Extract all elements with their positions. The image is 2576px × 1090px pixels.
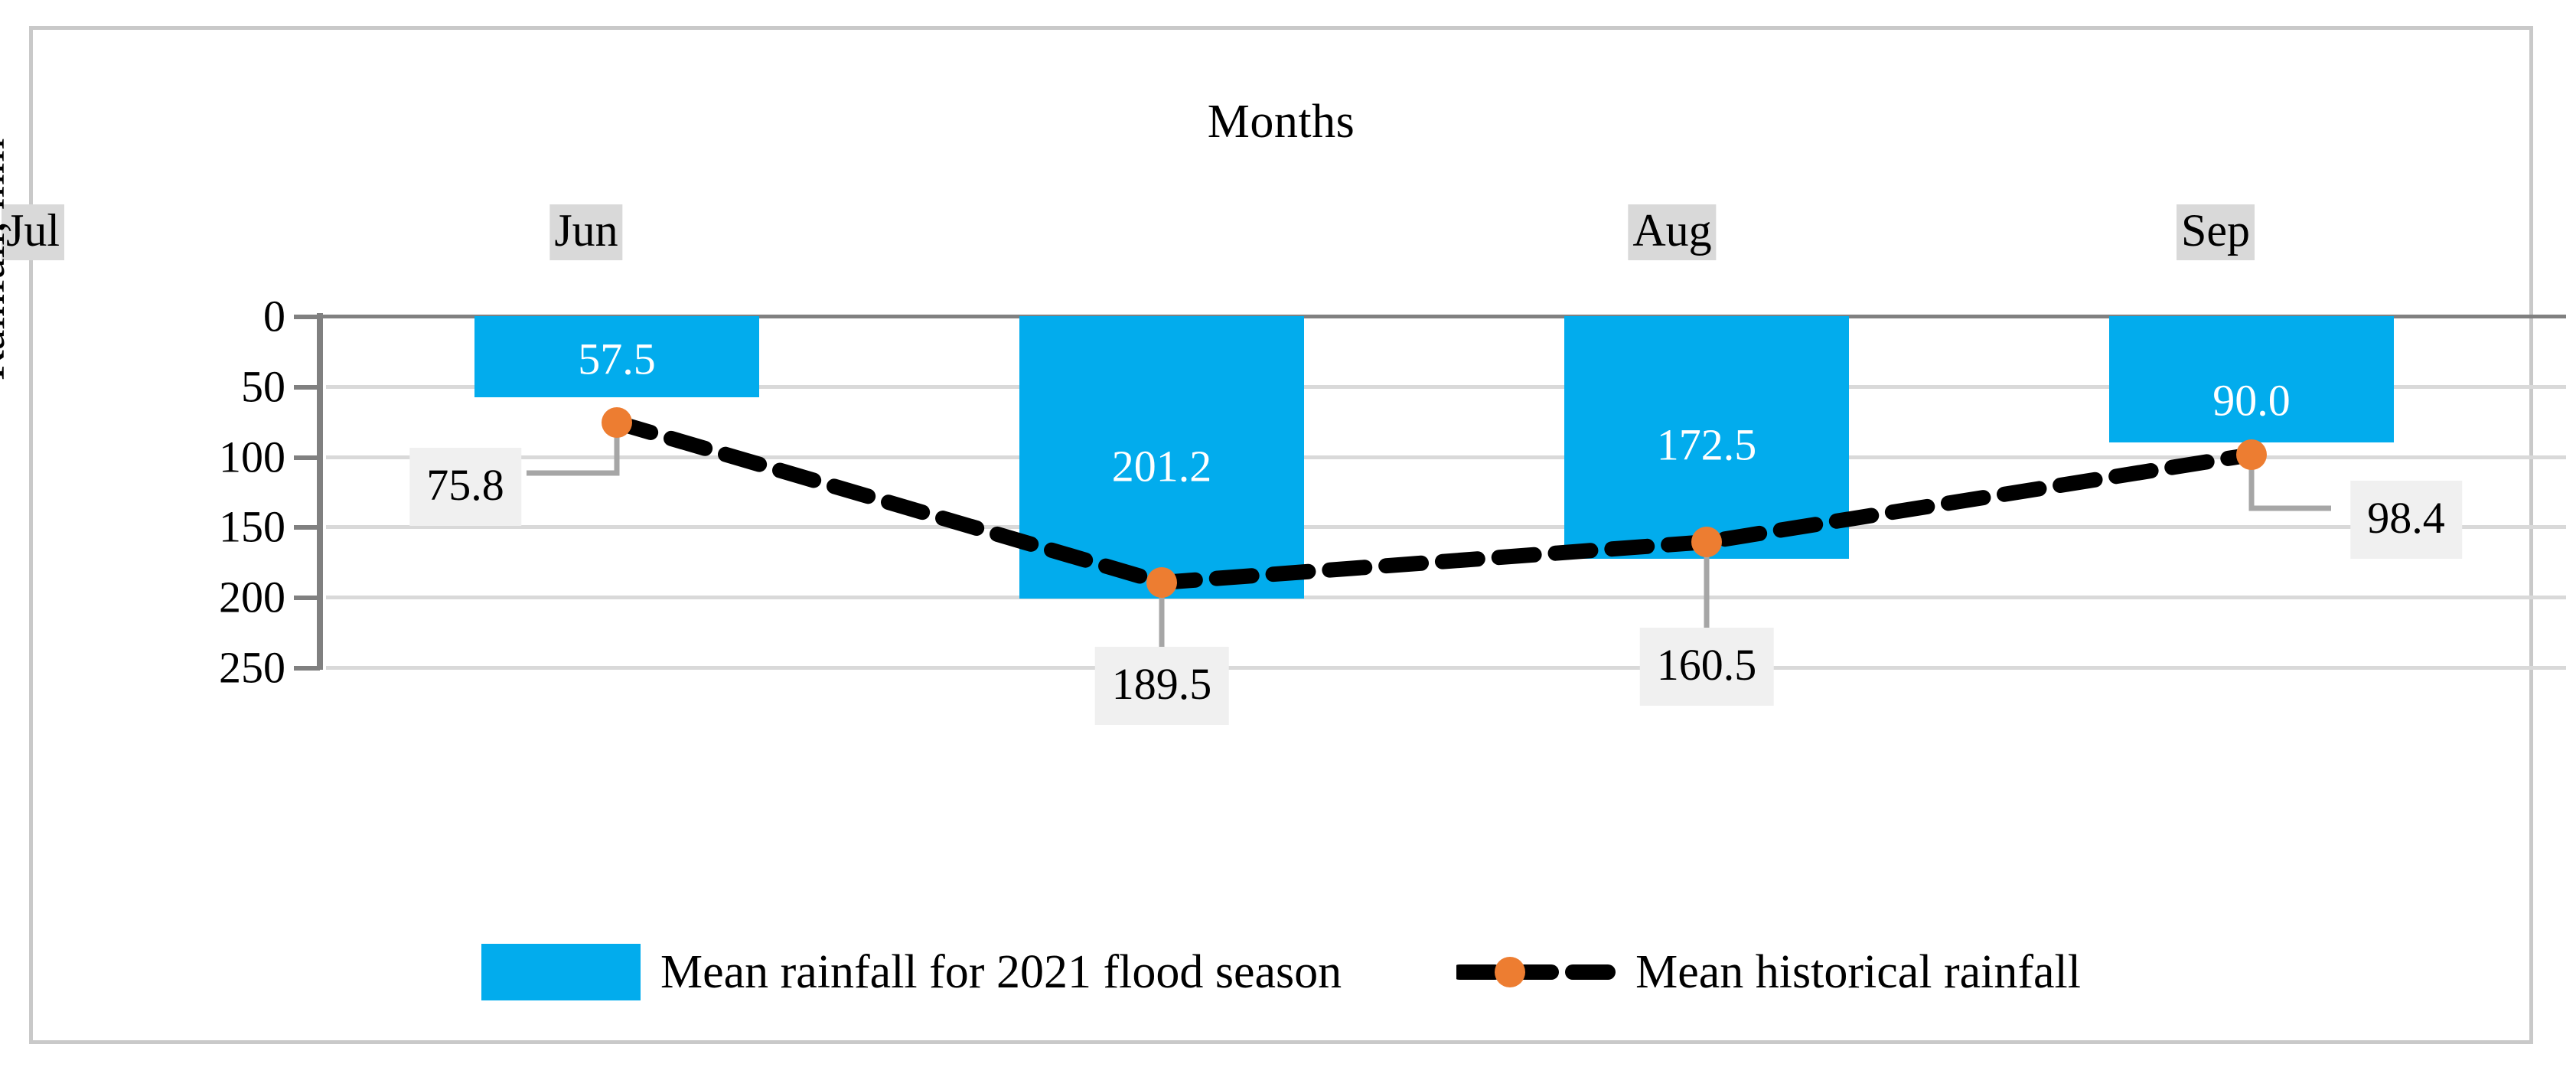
y-axis-tick-250: [294, 666, 320, 671]
y-axis-tick-labels: 0 50 100 150 200 250: [33, 316, 285, 667]
y-tick-label-50: 50: [241, 361, 285, 412]
legend-label-mean-rainfall-2021: Mean rainfall for 2021 flood season: [660, 945, 1342, 1000]
gridline-100: [326, 455, 2566, 459]
legend-item-mean-historical-rainfall[interactable]: Mean historical rainfall: [1456, 944, 2081, 1000]
bar-value-label-sep: 90.0: [2212, 375, 2291, 426]
gridline-250: [326, 666, 2566, 670]
chart-title: Months: [33, 95, 2529, 149]
category-label-sep: Sep: [2177, 204, 2255, 260]
bar-swatch-icon: [481, 944, 641, 1000]
y-axis-tick-200: [294, 596, 320, 600]
category-label-aug: Aug: [1628, 204, 1716, 260]
bar-value-label-aug: 172.5: [1657, 419, 1757, 471]
chart-figure: Months Jun Jul Aug Sep 0 50 100 150 200 …: [29, 26, 2533, 1044]
chart-legend: Mean rainfall for 2021 flood season Mean…: [33, 944, 2529, 1000]
category-label-jun: Jun: [549, 204, 622, 260]
y-axis-tick-150: [294, 525, 320, 530]
y-axis-tick-50: [294, 385, 320, 390]
y-axis-title: Rainfall, mm: [0, 139, 15, 381]
line-value-callout-jun: 75.8: [409, 448, 521, 526]
leader-line-jun: [527, 423, 617, 473]
leader-line-sep: [2252, 455, 2331, 508]
legend-item-mean-rainfall-2021[interactable]: Mean rainfall for 2021 flood season: [481, 944, 1342, 1000]
y-tick-label-100: 100: [219, 431, 285, 482]
gridline-150: [326, 525, 2566, 529]
marker-jun[interactable]: [602, 407, 632, 438]
historical-rainfall-line[interactable]: [617, 423, 2252, 583]
bar-value-label-jul: 201.2: [1112, 441, 1212, 492]
plot-area: 57.5 201.2 172.5 90.0 75.8 189.5 160.5 9…: [326, 316, 2566, 667]
y-tick-label-200: 200: [219, 572, 285, 623]
y-tick-label-250: 250: [219, 642, 285, 693]
y-tick-label-150: 150: [219, 501, 285, 553]
legend-label-mean-historical-rainfall: Mean historical rainfall: [1635, 945, 2081, 1000]
y-axis-line: [317, 313, 323, 670]
y-tick-label-0: 0: [263, 291, 285, 342]
line-value-callout-jul: 189.5: [1095, 647, 1229, 725]
y-axis-tick-100: [294, 455, 320, 460]
line-value-callout-aug: 160.5: [1640, 628, 1774, 706]
gridline-200: [326, 596, 2566, 599]
line-value-callout-sep: 98.4: [2350, 481, 2462, 559]
dashed-line-marker-swatch-icon: [1456, 944, 1616, 1000]
bar-value-label-jun: 57.5: [578, 334, 656, 385]
